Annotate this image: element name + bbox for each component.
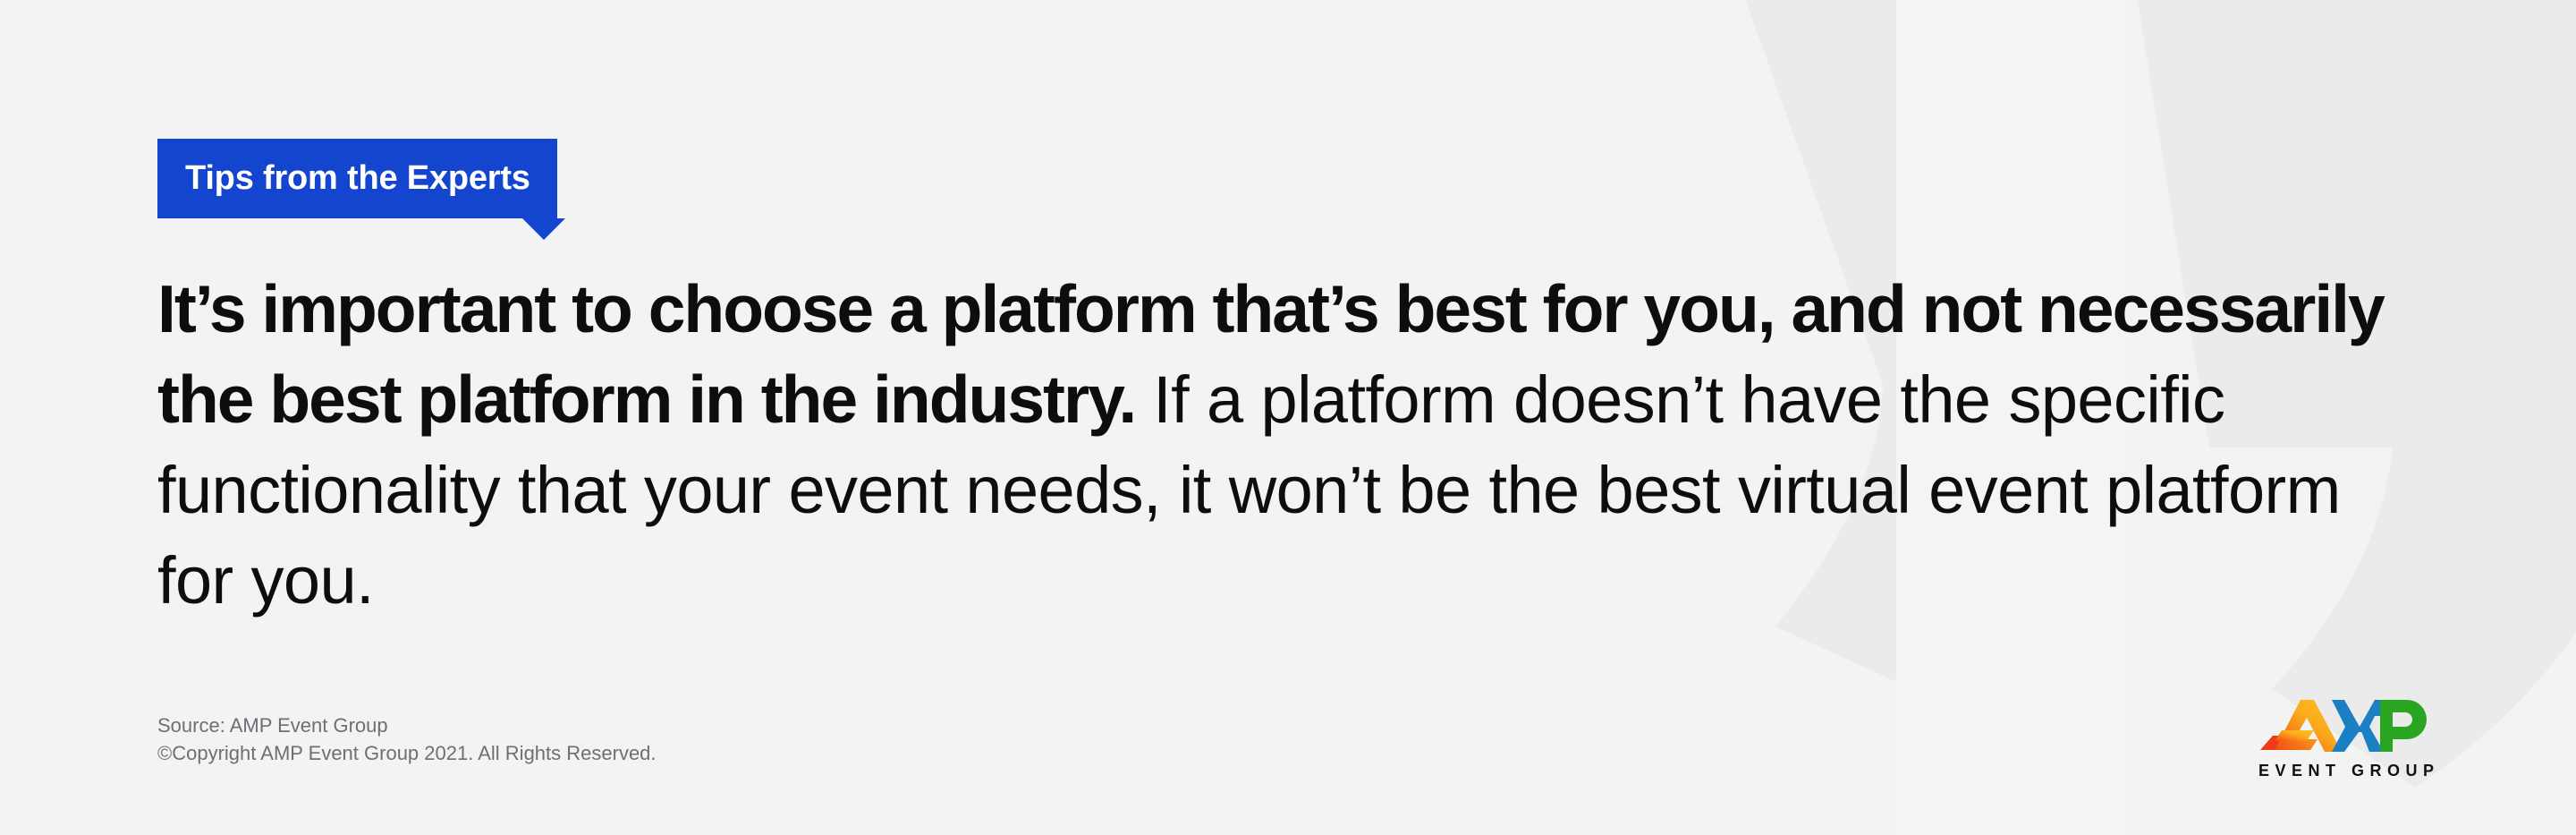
logo-letter-a xyxy=(2275,700,2342,752)
badge-pointer-icon xyxy=(522,218,565,240)
tips-badge[interactable]: Tips from the Experts xyxy=(157,139,557,218)
amp-logo-mark-icon xyxy=(2258,696,2437,761)
copyright-line: ©Copyright AMP Event Group 2021. All Rig… xyxy=(157,739,657,767)
slide-content: Tips from the Experts It’s important to … xyxy=(0,0,2576,835)
logo-wordmark: EVENT GROUP xyxy=(2258,762,2437,780)
source-line: Source: AMP Event Group xyxy=(157,711,657,739)
footer-attribution: Source: AMP Event Group ©Copyright AMP E… xyxy=(157,711,657,767)
amp-event-group-logo: EVENT GROUP xyxy=(2258,696,2437,786)
quote-paragraph: It’s important to choose a platform that… xyxy=(157,264,2394,626)
logo-letter-p xyxy=(2380,700,2427,752)
tips-badge-container: Tips from the Experts xyxy=(157,139,557,218)
logo-letter-m-right xyxy=(2360,727,2384,752)
slide-canvas: Tips from the Experts It’s important to … xyxy=(0,0,2576,835)
tips-badge-label: Tips from the Experts xyxy=(185,159,530,197)
